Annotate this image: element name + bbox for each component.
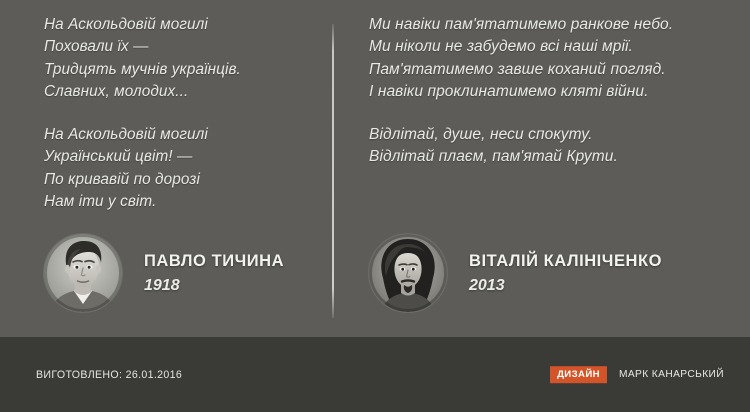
right-author-meta: ВІТАЛІЙ КАЛІНІЧЕНКО 2013 [469, 252, 662, 295]
portrait-vitalii-kalinichenko [369, 234, 447, 312]
left-stanza-1: На Аскольдовій могилі Поховали їх — Трид… [44, 14, 241, 104]
designer-name: МАРК КАНАРСЬКИЙ [619, 369, 724, 380]
right-author-name: ВІТАЛІЙ КАЛІНІЧЕНКО [469, 252, 662, 271]
portrait-pavlo-tychyna [44, 234, 122, 312]
poem-columns: На Аскольдовій могилі Поховали їх — Трид… [0, 0, 750, 337]
design-credit: ДИЗАЙН МАРК КАНАРСЬКИЙ [550, 366, 724, 384]
production-date-label: ВИГОТОВЛЕНО: 26.01.2016 [36, 369, 182, 381]
right-stanza-1: Ми навіки пам'ятатимемо ранкове небо. Ми… [369, 14, 673, 104]
footer-bar: ВИГОТОВЛЕНО: 26.01.2016 UKRAINE CRISIS m… [0, 337, 750, 412]
right-author-block: ВІТАЛІЙ КАЛІНІЧЕНКО 2013 [369, 234, 662, 312]
column-divider [332, 24, 334, 318]
right-author-year: 2013 [469, 276, 662, 295]
left-author-name: ПАВЛО ТИЧИНА [144, 252, 284, 271]
design-badge: ДИЗАЙН [550, 366, 607, 384]
left-author-year: 1918 [144, 276, 284, 295]
left-author-block: ПАВЛО ТИЧИНА 1918 [44, 234, 284, 312]
left-stanza-2: На Аскольдовій могилі Український цвіт! … [44, 124, 208, 214]
right-stanza-2: Відлітай, душе, неси спокуту. Відлітай п… [369, 124, 618, 169]
left-author-meta: ПАВЛО ТИЧИНА 1918 [144, 252, 284, 295]
poem-poster: На Аскольдовій могилі Поховали їх — Трид… [0, 0, 750, 412]
